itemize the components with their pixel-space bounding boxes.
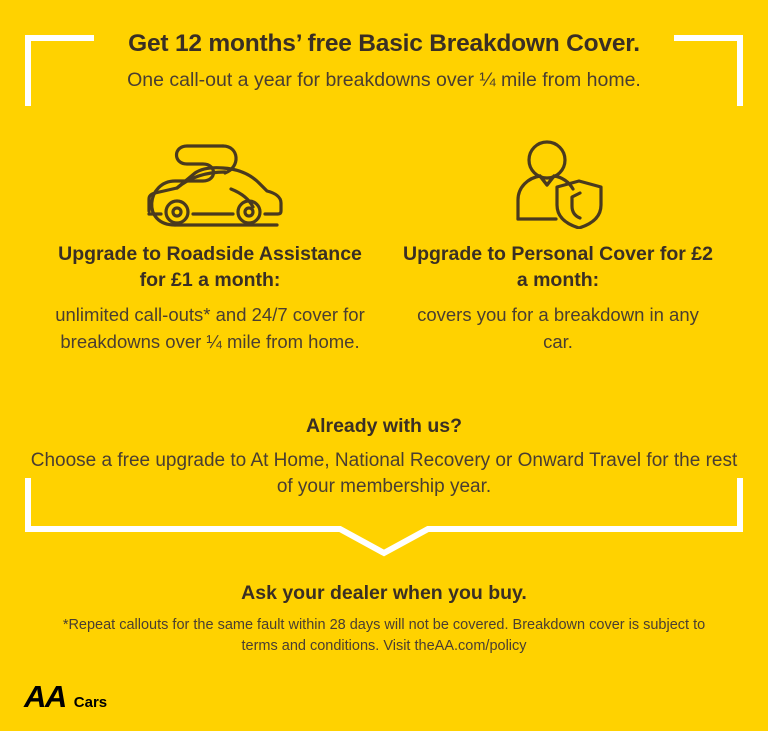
feature-title-roadside: Upgrade to Roadside Assistance for £1 a … — [53, 242, 367, 293]
call-to-action-block: Ask your dealer when you buy. *Repeat ca… — [0, 582, 768, 657]
already-with-us-body: Choose a free upgrade to At Home, Nation… — [0, 448, 768, 500]
person-with-shield-icon — [508, 137, 608, 229]
aa-cars-logo: AA Cars — [24, 681, 107, 712]
poster-canvas: Get 12 months’ free Basic Breakdown Cove… — [0, 0, 768, 731]
feature-column-roadside: Upgrade to Roadside Assistance for £1 a … — [45, 135, 375, 355]
feature-body-personal: covers you for a breakdown in any car. — [401, 302, 715, 355]
aa-logo-mark: AA — [24, 681, 66, 712]
feature-column-personal: Upgrade to Personal Cover for £2 a month… — [393, 135, 723, 355]
call-to-action-title: Ask your dealer when you buy. — [0, 582, 768, 605]
headline: Get 12 months’ free Basic Breakdown Cove… — [0, 28, 768, 59]
subheadline: One call-out a year for breakdowns over … — [0, 68, 768, 93]
feature-title-personal: Upgrade to Personal Cover for £2 a month… — [401, 242, 715, 293]
car-with-winding-road-icon — [131, 137, 289, 229]
already-with-us-title: Already with us? — [0, 415, 768, 438]
feature-body-roadside: unlimited call-outs* and 24/7 cover for … — [53, 302, 367, 355]
aa-logo-wordmark: Cars — [74, 695, 107, 710]
feature-columns: Upgrade to Roadside Assistance for £1 a … — [0, 135, 768, 355]
already-with-us-block: Already with us? Choose a free upgrade t… — [0, 415, 768, 500]
footnote-disclaimer: *Repeat callouts for the same fault with… — [0, 615, 768, 657]
roadside-icon-wrap — [53, 135, 367, 231]
header-block: Get 12 months’ free Basic Breakdown Cove… — [0, 28, 768, 94]
personal-icon-wrap — [401, 135, 715, 231]
